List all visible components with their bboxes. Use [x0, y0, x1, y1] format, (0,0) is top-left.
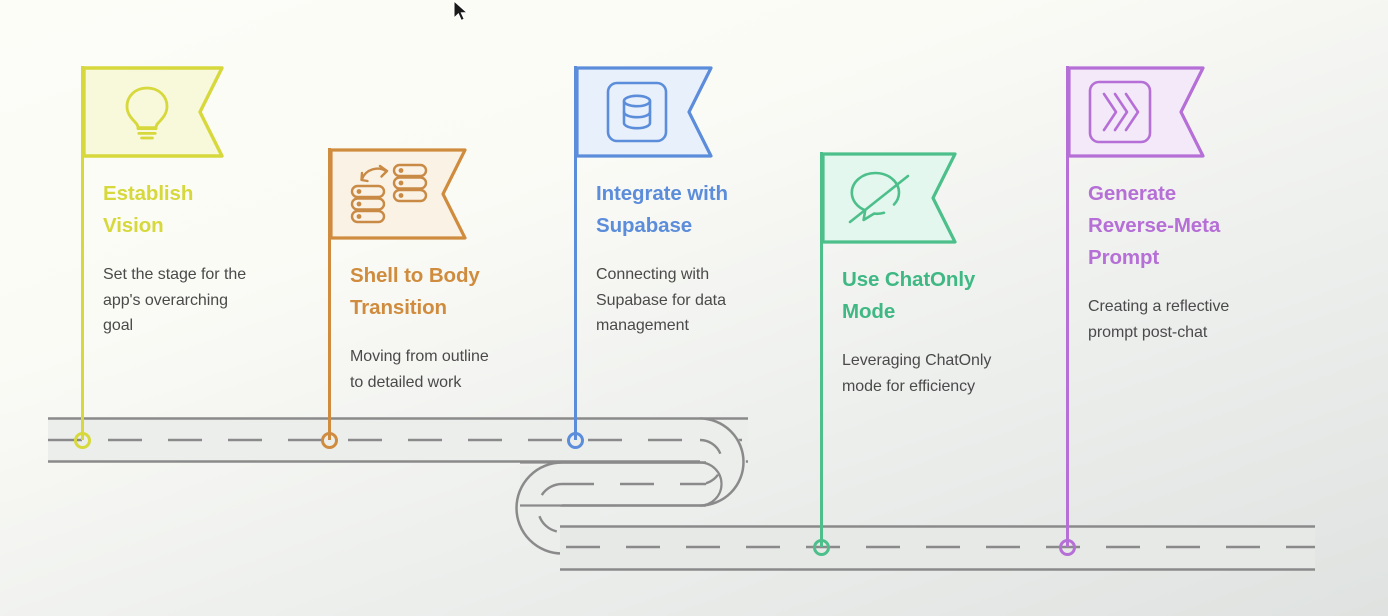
desc-line: Creating a reflective [1088, 298, 1229, 315]
flag-banner [329, 148, 467, 240]
milestone-title: Integrate with Supabase [596, 178, 806, 242]
title-line: Integrate with [596, 182, 728, 205]
desc-line: Supabase for data [596, 292, 726, 309]
desc-line: Connecting with [596, 266, 709, 283]
milestone-dot[interactable] [1059, 539, 1076, 556]
desc-line: Moving from outline [350, 348, 489, 365]
desc-line: goal [103, 317, 133, 334]
desc-line: Set the stage for the [103, 266, 246, 283]
milestone-description: Leveraging ChatOnly mode for efficiency [842, 348, 1047, 399]
title-line: Use ChatOnly [842, 268, 975, 291]
road-segment-lower [560, 526, 1315, 570]
milestone-description: Connecting with Supabase for data manage… [596, 262, 796, 339]
title-line: Mode [842, 300, 895, 323]
road-segment-middle [560, 462, 706, 506]
milestone-title: Use ChatOnly Mode [842, 264, 1042, 328]
title-line: Vision [103, 214, 164, 237]
milestone-title: Shell to Body Transition [350, 260, 550, 324]
desc-line: management [596, 317, 689, 334]
title-line: Prompt [1088, 246, 1159, 269]
milestone-dot[interactable] [567, 432, 584, 449]
title-line: Reverse-Meta [1088, 214, 1220, 237]
milestone-dot[interactable] [321, 432, 338, 449]
desc-line: mode for efficiency [842, 378, 975, 395]
flag-banner [1067, 66, 1205, 158]
milestone-description: Creating a reflective prompt post-chat [1088, 294, 1288, 345]
title-line: Generate [1088, 182, 1176, 205]
title-line: Establish [103, 182, 193, 205]
milestone-description: Set the stage for the app's overarching … [103, 262, 308, 339]
desc-line: prompt post-chat [1088, 324, 1207, 341]
milestone-dot[interactable] [813, 539, 830, 556]
desc-line: app's overarching [103, 292, 228, 309]
flag-banner [821, 152, 957, 244]
roadmap-canvas: Establish Vision Set the stage for the a… [0, 0, 1388, 616]
road-segment-upper [48, 418, 748, 462]
milestone-description: Moving from outline to detailed work [350, 344, 555, 395]
title-line: Shell to Body [350, 264, 480, 287]
title-line: Transition [350, 296, 447, 319]
desc-line: to detailed work [350, 374, 461, 391]
flag-banner [82, 66, 224, 158]
desc-line: Leveraging ChatOnly [842, 352, 991, 369]
milestone-dot[interactable] [74, 432, 91, 449]
milestone-title: Establish Vision [103, 178, 293, 242]
title-line: Supabase [596, 214, 692, 237]
mouse-pointer-icon [452, 0, 470, 29]
milestone-title: Generate Reverse-Meta Prompt [1088, 178, 1298, 274]
flag-banner [575, 66, 713, 158]
